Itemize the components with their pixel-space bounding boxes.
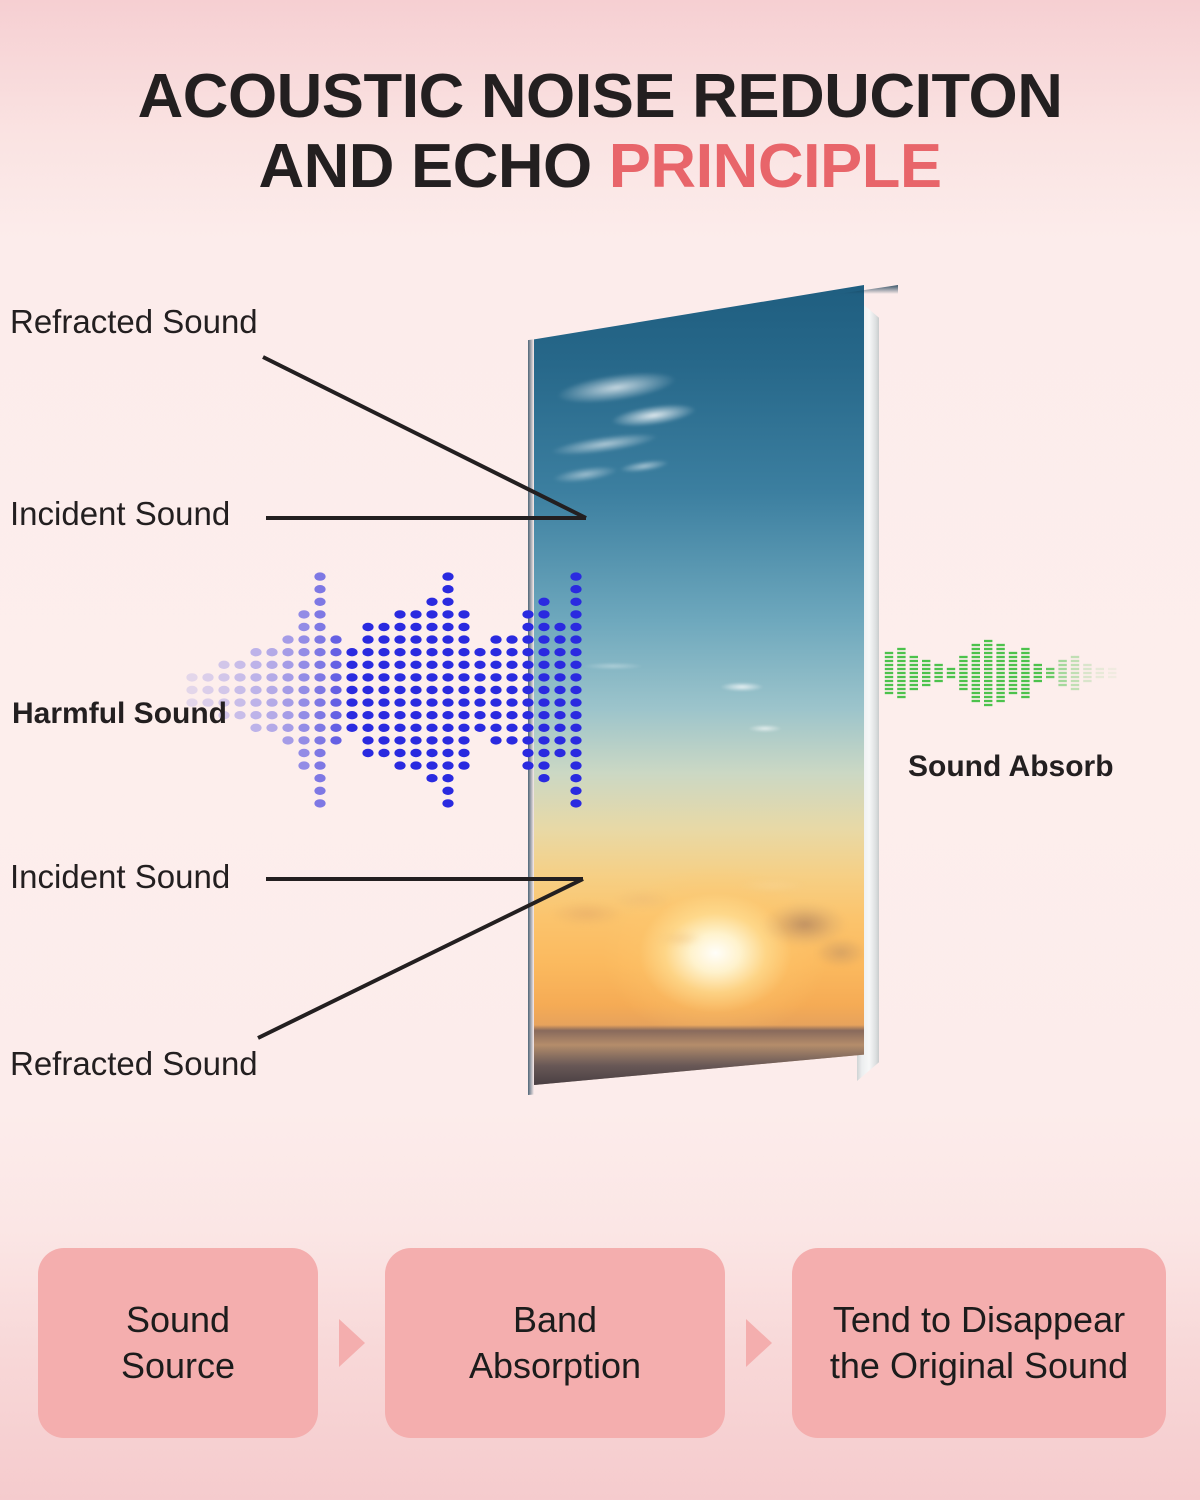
flow-step-label: SoundSource bbox=[121, 1297, 235, 1389]
triangle-right-icon bbox=[339, 1319, 365, 1367]
flow-step-label: BandAbsorption bbox=[469, 1297, 641, 1389]
label-refracted-sound-bottom: Refracted Sound bbox=[10, 1045, 258, 1083]
label-incident-sound-top: Incident Sound bbox=[10, 495, 230, 533]
process-flow: SoundSource BandAbsorption Tend to Disap… bbox=[38, 1248, 1166, 1438]
flow-step-tend-to-disappear[interactable]: Tend to Disappearthe Original Sound bbox=[792, 1248, 1166, 1438]
flow-step-sound-source[interactable]: SoundSource bbox=[38, 1248, 318, 1438]
label-sound-absorb: Sound Absorb bbox=[908, 750, 1114, 784]
sound-absorb-waveform bbox=[884, 638, 1124, 708]
label-refracted-sound-top: Refracted Sound bbox=[10, 303, 258, 341]
flow-arrow-1 bbox=[318, 1248, 385, 1438]
label-incident-sound-bottom: Incident Sound bbox=[10, 858, 230, 896]
label-harmful-sound: Harmful Sound bbox=[12, 697, 227, 731]
title-accent-word: PRINCIPLE bbox=[609, 132, 942, 201]
title-line-2: AND ECHO PRINCIPLE bbox=[0, 136, 1200, 198]
flow-arrow-2 bbox=[725, 1248, 792, 1438]
page-title: ACOUSTIC NOISE REDUCITON AND ECHO PRINCI… bbox=[0, 66, 1200, 198]
title-line-1: ACOUSTIC NOISE REDUCITON bbox=[0, 66, 1200, 128]
triangle-right-icon bbox=[746, 1319, 772, 1367]
sunset-cloud-band bbox=[534, 861, 864, 1037]
cirrus-clouds-upper bbox=[534, 295, 864, 610]
flow-step-label: Tend to Disappearthe Original Sound bbox=[830, 1297, 1128, 1389]
title-line-2-plain: AND ECHO bbox=[258, 132, 608, 201]
flow-step-band-absorption[interactable]: BandAbsorption bbox=[385, 1248, 725, 1438]
harmful-sound-waveform bbox=[186, 570, 586, 810]
